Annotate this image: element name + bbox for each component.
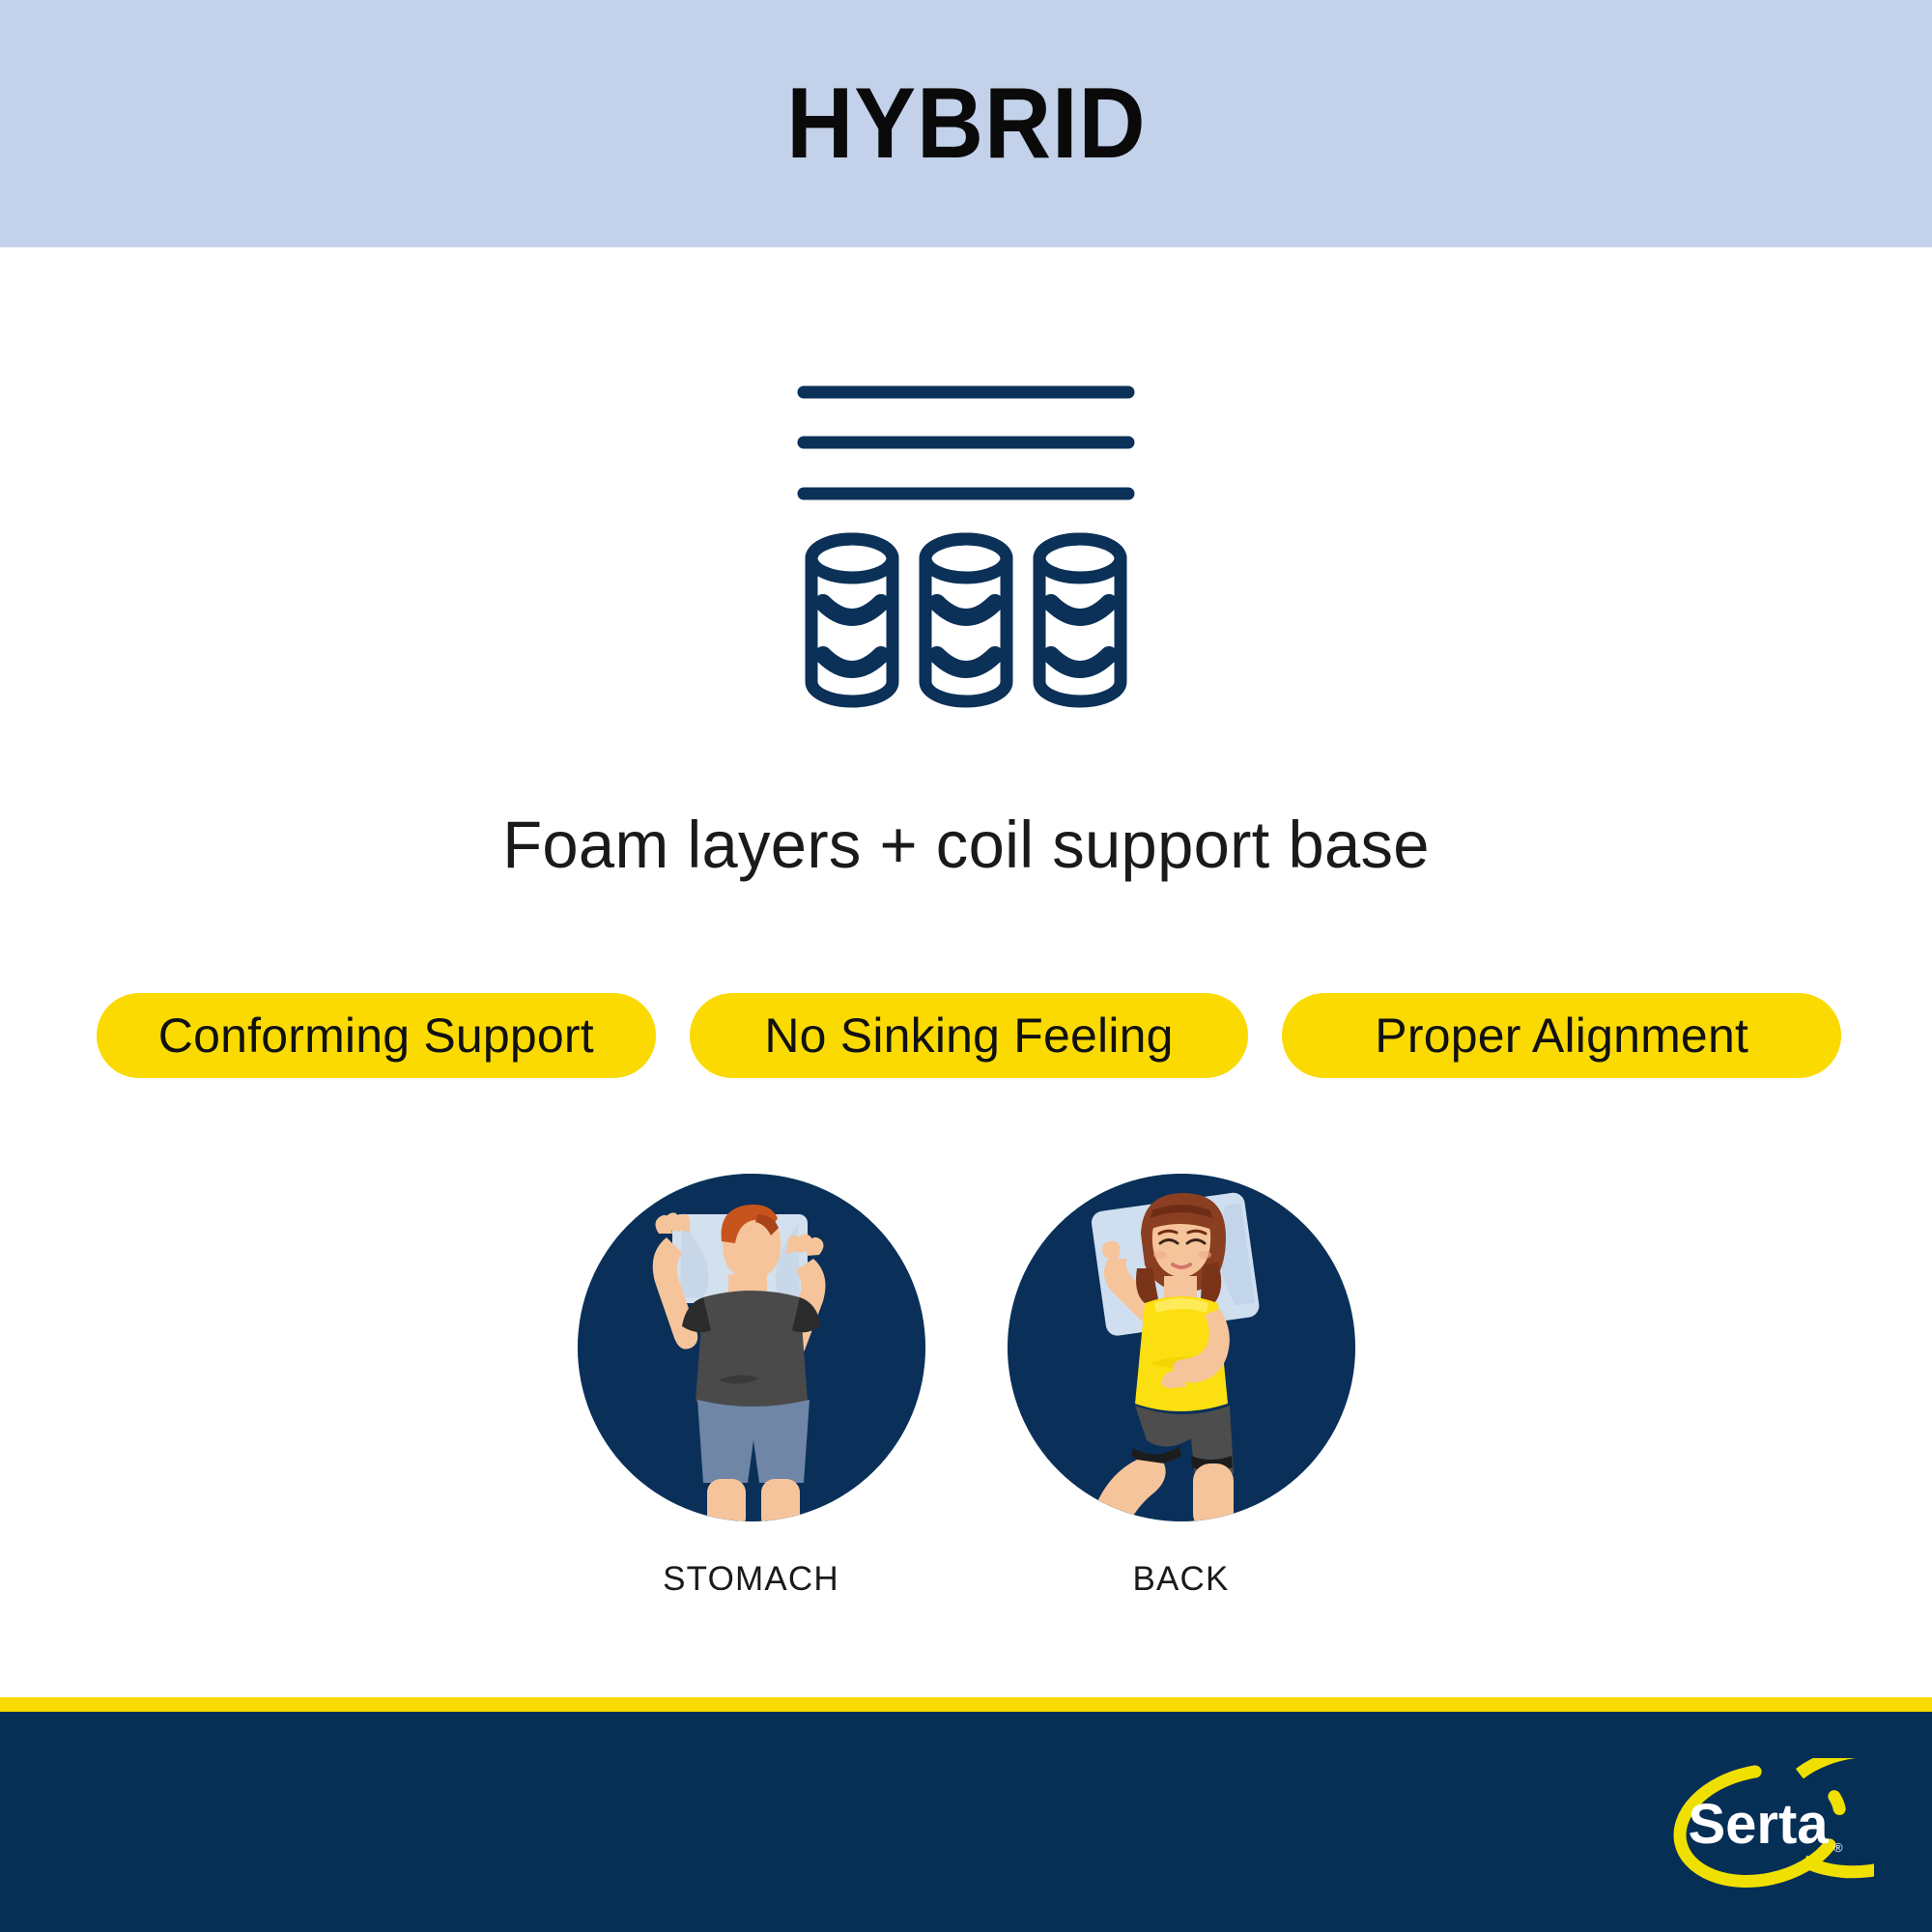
page-title: HYBRID — [786, 73, 1146, 174]
subtitle-text: Foam layers + coil support base — [29, 807, 1903, 883]
sleep-position-label: BACK — [1008, 1560, 1355, 1599]
sleep-position-label: STOMACH — [578, 1560, 925, 1599]
header-band: HYBRID — [0, 0, 1932, 247]
benefit-pill-conforming-support[interactable]: Conforming Support — [97, 993, 656, 1078]
hybrid-foam-coil-icon — [792, 365, 1140, 724]
footer-accent-stripe — [0, 1697, 1932, 1712]
serta-logo[interactable]: Serta ® — [1652, 1758, 1874, 1903]
pill-label: No Sinking Feeling — [764, 1008, 1173, 1064]
benefit-pill-no-sinking-feeling[interactable]: No Sinking Feeling — [690, 993, 1249, 1078]
pill-label: Proper Alignment — [1375, 1008, 1748, 1064]
footer-band — [0, 1712, 1932, 1932]
stomach-sleeper-illustration — [578, 1174, 925, 1521]
infographic-page: HYBRID — [0, 0, 1932, 1932]
back-sleeper-illustration — [1008, 1174, 1355, 1521]
pill-label: Conforming Support — [158, 1008, 594, 1064]
sleep-position-stomach[interactable]: STOMACH — [578, 1174, 925, 1599]
benefit-pill-row: Conforming Support No Sinking Feeling Pr… — [97, 993, 1841, 1078]
sleep-position-back[interactable]: BACK — [1008, 1174, 1355, 1599]
sleep-position-row: STOMACH — [0, 1174, 1932, 1599]
benefit-pill-proper-alignment[interactable]: Proper Alignment — [1282, 993, 1841, 1078]
serta-wordmark: Serta — [1688, 1793, 1829, 1856]
registered-trademark-mark: ® — [1833, 1840, 1843, 1855]
